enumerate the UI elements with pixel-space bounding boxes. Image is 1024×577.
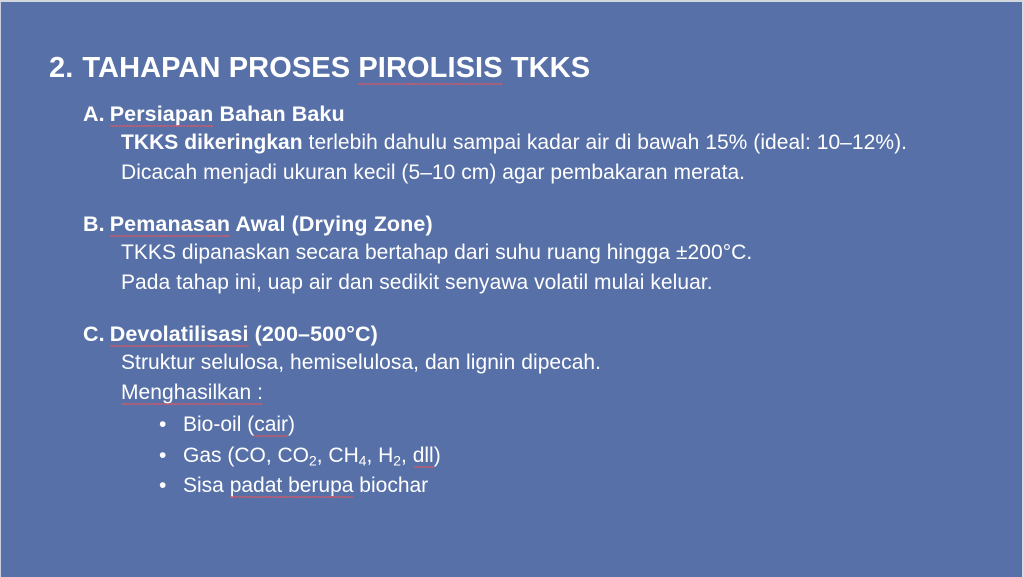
- section-b-line-1: TKKS dipanaskan secara bertahap dari suh…: [121, 238, 1024, 268]
- section-a-heading-misspelled-word: Persiapan: [110, 102, 214, 126]
- section-c: C.Devolatilisasi (200–500°C) Struktur se…: [1, 320, 1024, 502]
- section-c-line-1: Struktur selulosa, hemiselulosa, dan lig…: [121, 348, 1024, 378]
- section-a-heading: A.Persiapan Bahan Baku: [83, 100, 1024, 128]
- section-b-heading-rest: Awal (Drying Zone): [230, 212, 433, 236]
- slide-title-number: 2.: [49, 52, 73, 84]
- bullet-item-biochar-text: Sisa padat berupa biochar: [183, 474, 428, 497]
- section-c-line-1-text: Struktur selulosa, hemiselulosa, dan lig…: [121, 351, 601, 374]
- section-c-line-2: Menghasilkan :: [121, 378, 1024, 408]
- section-a: A.Persiapan Bahan Baku TKKS dikeringkan …: [1, 100, 1024, 188]
- section-b-letter: B.: [83, 212, 105, 236]
- section-b-heading: B.Pemanasan Awal (Drying Zone): [83, 210, 1024, 238]
- section-b-line-2-text: Pada tahap ini, uap air dan sedikit seny…: [121, 271, 713, 294]
- slide-title-misspelled-word: PIROLISIS: [358, 52, 502, 84]
- section-a-line-1: TKKS dikeringkan terlebih dahulu sampai …: [121, 128, 1024, 158]
- section-a-letter: A.: [83, 102, 105, 126]
- section-a-line-1-rest: terlebih dahulu sampai kadar air di bawa…: [303, 131, 907, 154]
- section-c-heading: C.Devolatilisasi (200–500°C): [83, 320, 1024, 348]
- section-b-heading-misspelled-word: Pemanasan: [110, 212, 230, 236]
- bullet-marker-icon: •: [159, 410, 166, 441]
- section-c-bullet-list: • Bio-oil (cair) • Gas (CO, CO2, CH4, H2…: [1, 410, 1024, 502]
- spacer-b-c: [1, 298, 1024, 320]
- section-b-line-1-text: TKKS dipanaskan secara bertahap dari suh…: [121, 241, 752, 264]
- presentation-slide: 2.TAHAPAN PROSES PIROLISIS TKKS A.Persia…: [0, 0, 1024, 577]
- slide-title-text-post: TKKS: [503, 52, 591, 84]
- slide-body: A.Persiapan Bahan Baku TKKS dikeringkan …: [1, 100, 1024, 502]
- bullet-marker-icon: •: [159, 471, 166, 502]
- section-c-heading-misspelled-word: Devolatilisasi: [110, 322, 249, 346]
- slide-title: 2.TAHAPAN PROSES PIROLISIS TKKS: [49, 53, 590, 84]
- section-c-heading-rest: (200–500°C): [249, 322, 378, 346]
- section-a-line-1-bold: TKKS dikeringkan: [121, 131, 303, 154]
- section-b-line-2: Pada tahap ini, uap air dan sedikit seny…: [121, 268, 1024, 298]
- section-a-heading-rest: Bahan Baku: [213, 102, 344, 126]
- bullet-item-gas: • Gas (CO, CO2, CH4, H2, dll): [159, 441, 1024, 472]
- bullet-item-gas-text: Gas (CO, CO2, CH4, H2, dll): [183, 444, 441, 467]
- bullet-item-biochar: • Sisa padat berupa biochar: [159, 471, 1024, 502]
- section-c-letter: C.: [83, 322, 105, 346]
- section-a-line-2-text: Dicacah menjadi ukuran kecil (5–10 cm) a…: [121, 161, 745, 184]
- spacer-a-b: [1, 188, 1024, 210]
- section-a-line-2: Dicacah menjadi ukuran kecil (5–10 cm) a…: [121, 158, 1024, 188]
- section-c-line-2-text: Menghasilkan :: [121, 381, 263, 404]
- bullet-marker-icon: •: [159, 441, 166, 472]
- bullet-item-bio-oil: • Bio-oil (cair): [159, 410, 1024, 441]
- slide-title-text-pre: TAHAPAN PROSES: [82, 52, 358, 84]
- section-b: B.Pemanasan Awal (Drying Zone) TKKS dipa…: [1, 210, 1024, 298]
- bullet-item-bio-oil-text: Bio-oil (cair): [183, 413, 295, 436]
